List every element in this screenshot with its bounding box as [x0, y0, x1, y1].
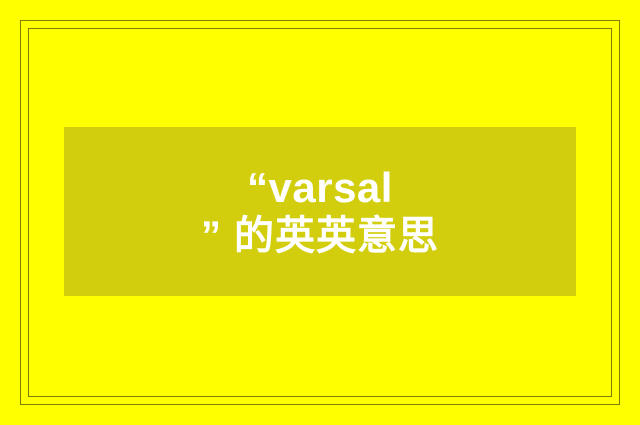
title-card: “varsal ” 的英英意思 [64, 127, 576, 296]
title-line-secondary: ” 的英英意思 [201, 215, 439, 257]
title-line-primary: “varsal [247, 166, 393, 211]
image-canvas: “varsal ” 的英英意思 [0, 0, 640, 425]
